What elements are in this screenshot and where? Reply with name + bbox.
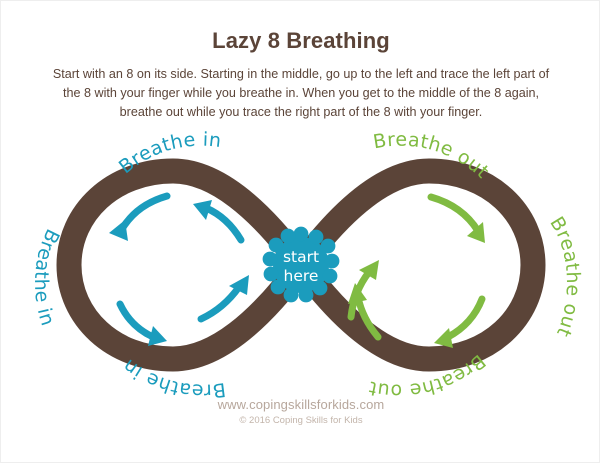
website-url[interactable]: www.copingskillsforkids.com (1, 397, 600, 412)
lazy-eight-diagram: start here Breathe in Breathe in Breathe… (1, 129, 600, 401)
badge-line-1: start (283, 248, 319, 266)
page-title: Lazy 8 Breathing (1, 1, 600, 54)
header: Lazy 8 Breathing Start with an 8 on its … (1, 1, 600, 122)
badge-line-2: here (284, 267, 319, 285)
breathe-out-arrows (348, 197, 485, 348)
label-breathe-out-right: Breathe out (545, 213, 584, 340)
arrow-in-lower-right (201, 275, 249, 319)
label-breathe-out-right-text: Breathe out (545, 213, 584, 340)
breathe-in-arrows (109, 196, 249, 346)
lazy-eight-svg: start here Breathe in Breathe in Breathe… (1, 129, 600, 401)
arrow-in-upper-left (109, 196, 167, 241)
instructions-paragraph: Start with an 8 on its side. Starting in… (49, 54, 554, 122)
arrow-out-upper-right (431, 197, 485, 243)
copyright-notice: © 2016 Coping Skills for Kids (1, 412, 600, 426)
worksheet-page: Lazy 8 Breathing Start with an 8 on its … (0, 0, 600, 463)
footer: www.copingskillsforkids.com © 2016 Copin… (1, 397, 600, 426)
